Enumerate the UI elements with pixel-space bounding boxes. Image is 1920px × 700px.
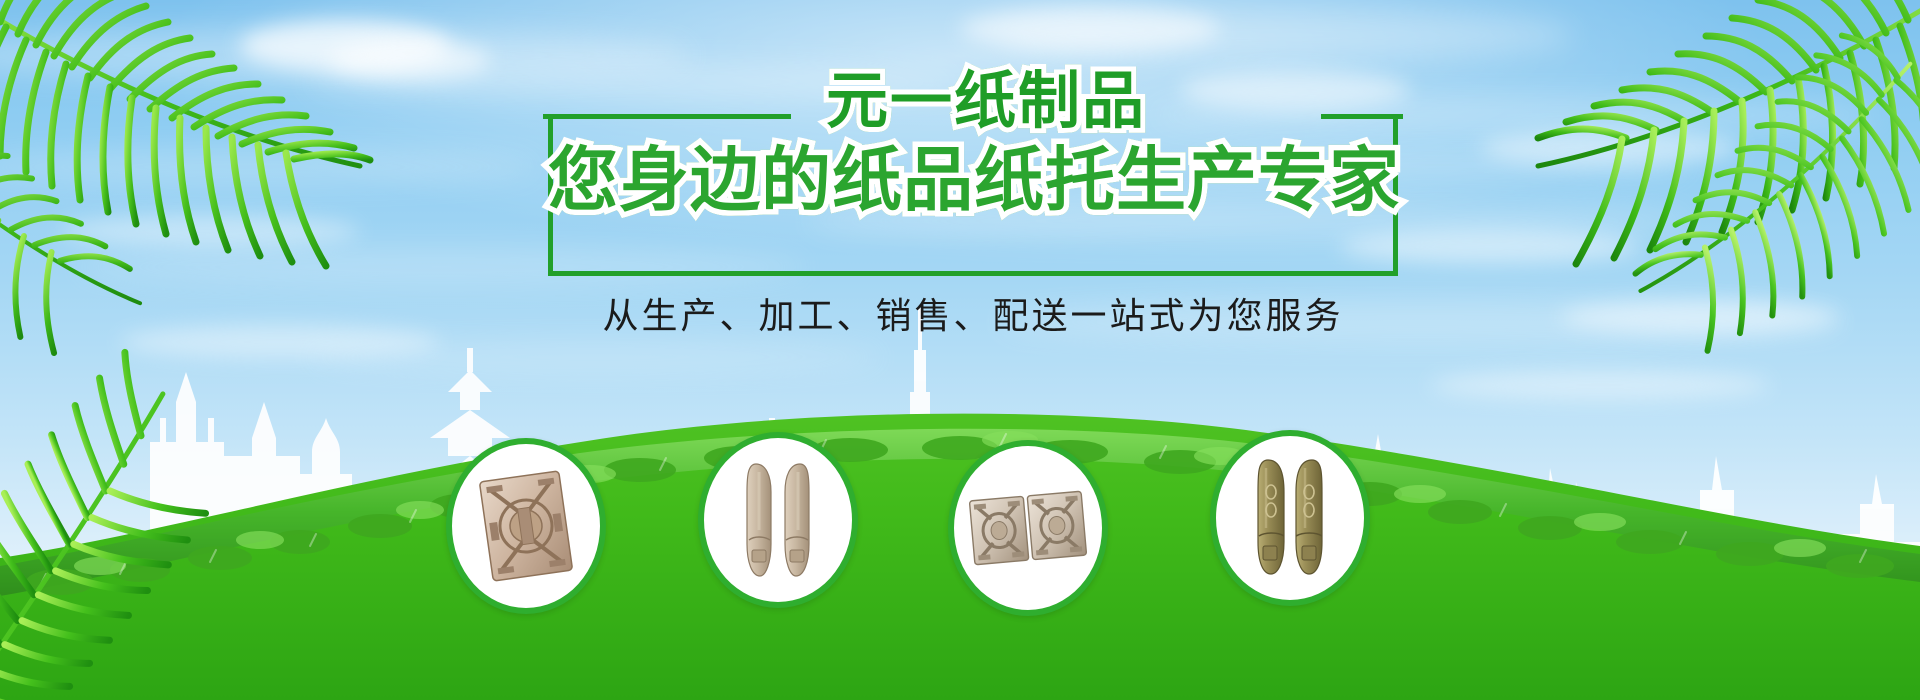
product-circle-3[interactable]	[948, 440, 1108, 616]
frame-rule-left	[543, 114, 791, 119]
headline-frame: 元一纸制品 您身边的纸品纸托生产专家	[548, 116, 1398, 276]
product-circle-4[interactable]	[1210, 430, 1370, 606]
cloud-icon	[1180, 70, 1410, 110]
product-circle-2[interactable]	[698, 432, 858, 608]
product-circle-1[interactable]	[446, 438, 606, 614]
paper-pulp-square-tray-icon	[464, 464, 588, 588]
paper-pulp-shoe-tree-pair-icon	[716, 458, 840, 582]
headline-primary: 元一纸制品	[776, 68, 1196, 134]
frame-rule-right	[1321, 114, 1403, 119]
tagline: 从生产、加工、销售、配送一站式为您服务	[548, 296, 1398, 338]
product-showcase	[0, 436, 1920, 636]
cloud-icon	[960, 6, 1220, 52]
paper-pulp-shoe-insert-icon	[1228, 456, 1352, 580]
promo-banner: 元一纸制品 您身边的纸品纸托生产专家 从生产、加工、销售、配送一站式为您服务	[0, 0, 1920, 700]
paper-pulp-twin-tray-icon	[966, 466, 1090, 590]
headline-secondary: 您身边的纸品纸托生产专家	[548, 140, 1398, 220]
